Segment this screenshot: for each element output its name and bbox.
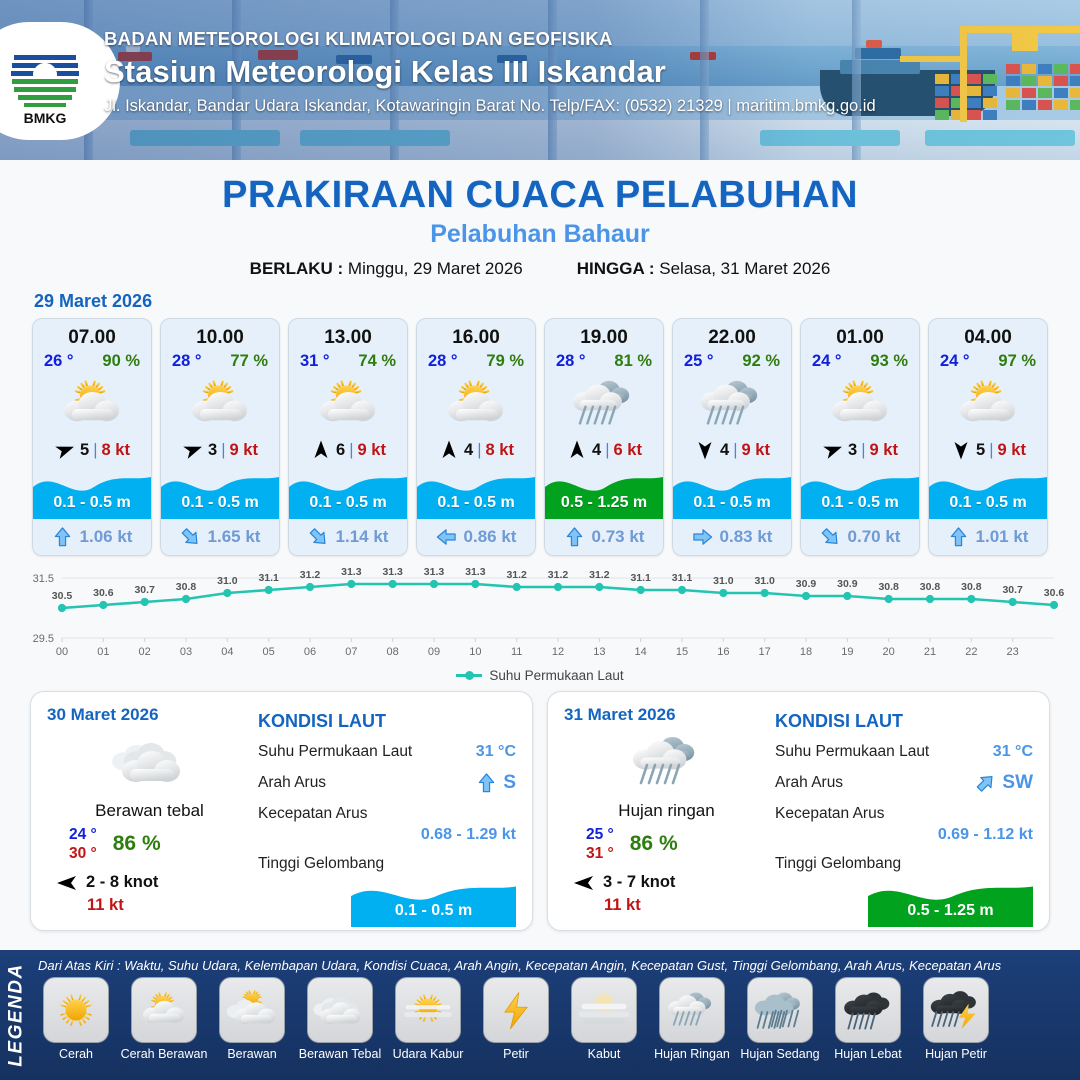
svg-text:20: 20 [883,646,895,658]
current-speed: 1.06 kt [80,527,133,547]
svg-text:29.5: 29.5 [33,633,54,645]
forecast-card[interactable]: 16.00 28 ° 79 % 4 | 8 [416,318,536,556]
wind-row: 5 | 9 kt [929,435,1047,465]
svg-text:06: 06 [304,646,316,658]
forecast-time: 10.00 [161,319,279,349]
forecast-temp-hum: 28 ° 79 % [417,349,535,371]
wave-height-row: Tinggi Gelombang [258,855,516,873]
current-direction-icon [308,526,329,548]
forecast-time: 07.00 [33,319,151,349]
daily-date: 30 Maret 2026 [47,705,252,725]
cerah-berawan-icon [311,375,385,433]
svg-text:12: 12 [552,646,564,658]
current-speed-row: Kecepatan Arus [258,805,516,823]
svg-text:18: 18 [800,646,812,658]
weather-condition-icon-wrap [417,373,535,435]
legend-item-label: Petir [503,1047,529,1061]
hujan-lebat-icon [840,985,896,1035]
sea-condition-title: KONDISI LAUT [258,711,516,732]
air-temperature: 31 ° [300,352,330,371]
svg-text:30.6: 30.6 [1044,587,1065,599]
wave-height-value: 0.1 - 0.5 m [801,494,919,512]
svg-text:31.0: 31.0 [754,575,775,587]
legend-icon-box [131,977,197,1043]
daily-gust: 11 kt [564,896,769,915]
legend-item: Cerah [34,977,118,1061]
current-direction-row: Arah Arus S [258,772,516,794]
wave-height-block: 0.1 - 0.5 m [801,465,919,519]
daily-wind-range: 2 - 8 knot [86,873,158,892]
svg-text:00: 00 [56,646,68,658]
humidity: 81 % [614,352,652,371]
gust-speed: 6 kt [614,441,642,460]
wind-row: 4 | 6 kt [545,435,663,465]
wave-height-block: 0.1 - 0.5 m [929,465,1047,519]
daily-temp-min: 25 ° [586,825,614,844]
daily-temp-range: 25 ° 31 ° [586,825,614,864]
svg-text:31.1: 31.1 [630,572,651,584]
svg-text:30.7: 30.7 [134,584,155,596]
wave-height-value: 0.1 - 0.5 m [289,494,407,512]
wind-row: 3 | 9 kt [801,435,919,465]
current-direction-icon [975,772,996,794]
wind-speed: 5 [80,441,89,460]
wave-height-value: 0.1 - 0.5 m [33,494,151,512]
svg-text:02: 02 [139,646,151,658]
current-speed-row: Kecepatan Arus [775,805,1033,823]
wind-separator: | [989,441,993,460]
humidity: 90 % [102,352,140,371]
hujan-sedang-icon [752,985,808,1035]
daily-gust: 11 kt [47,896,252,915]
svg-text:31.2: 31.2 [300,569,321,581]
forecast-temp-hum: 31 ° 74 % [289,349,407,371]
forecast-card[interactable]: 04.00 24 ° 97 % 5 | 9 [928,318,1048,556]
forecast-card[interactable]: 22.00 25 ° 92 % [672,318,792,556]
gust-speed: 9 kt [358,441,386,460]
daily-temp-max: 30 ° [69,844,97,863]
sst-chart-canvas: 31.529.500010203040506070809101112131415… [14,566,1066,666]
current-direction-icon [692,526,713,548]
weather-condition-icon-wrap [161,373,279,435]
humidity: 92 % [742,352,780,371]
legend-item: Cerah Berawan [122,977,206,1061]
svg-text:31.1: 31.1 [258,572,279,584]
wind-row: 3 | 9 kt [161,435,279,465]
hujan-ringan-icon [664,985,720,1035]
wind-row: 6 | 9 kt [289,435,407,465]
svg-text:30.5: 30.5 [52,590,73,602]
berawan-tebal-icon [312,985,368,1035]
legend-icon-box [571,977,637,1043]
legend-icon-box [395,977,461,1043]
forecast-temp-hum: 26 ° 90 % [33,349,151,371]
forecast-time: 19.00 [545,319,663,349]
current-speed: 0.73 kt [592,527,645,547]
forecast-card[interactable]: 19.00 28 ° 81 % [544,318,664,556]
sst-label: Suhu Permukaan Laut [258,743,412,761]
svg-text:30.7: 30.7 [1002,584,1023,596]
svg-text:09: 09 [428,646,440,658]
hujan-ringan-icon [567,375,641,433]
forecast-time: 22.00 [673,319,791,349]
legend-item: Petir [474,977,558,1061]
weather-condition-icon-wrap [289,373,407,435]
svg-text:30.9: 30.9 [796,578,817,590]
current-speed-value: 0.69 - 1.12 kt [775,826,1033,844]
wind-direction-icon [438,439,460,461]
wind-speed: 3 [208,441,217,460]
current-direction-value-group: S [476,772,516,794]
legend-body: Dari Atas Kiri : Waktu, Suhu Udara, Kele… [34,950,1080,1080]
weather-condition-icon-wrap [673,373,791,435]
wave-height-block: 0.1 - 0.5 m [33,465,151,519]
wave-height-value: 0.1 - 0.5 m [161,494,279,512]
forecast-temp-hum: 28 ° 77 % [161,349,279,371]
svg-text:19: 19 [841,646,853,658]
forecast-card[interactable]: 01.00 24 ° 93 % 3 | 9 [800,318,920,556]
legend-item-label: Udara Kabur [393,1047,464,1061]
wind-direction-icon [822,439,844,461]
page-title: PRAKIRAAN CUACA PELABUHAN [0,174,1080,217]
air-temperature: 28 ° [428,352,458,371]
svg-text:22: 22 [965,646,977,658]
current-row: 1.06 kt [33,519,151,555]
daily-forecast-card[interactable]: 30 Maret 2026 Berawan tebal [30,691,533,931]
current-direction-row: Arah Arus SW [775,772,1033,794]
daily-summary-row: 30 Maret 2026 Berawan tebal [0,683,1080,931]
chart-legend: Suhu Permukaan Laut [0,668,1080,683]
daily-weather-icon-wrap [564,731,769,793]
svg-text:30.8: 30.8 [920,581,941,593]
legend-item: Hujan Ringan [650,977,734,1061]
forecast-temp-hum: 24 ° 93 % [801,349,919,371]
daily-wind-row: 2 - 8 knot [47,872,252,894]
current-direction-label: Arah Arus [258,774,326,792]
page-subtitle: Pelabuhan Bahaur [0,220,1080,249]
bmkg-logo-badge: BMKG [0,22,120,140]
daily-temps: 25 ° 31 ° 86 % [564,825,769,864]
current-direction-label: Arah Arus [775,774,843,792]
berlaku-group: BERLAKU : Minggu, 29 Maret 2026 [250,259,523,279]
berawan-tebal-icon [109,731,191,793]
wave-height-block: 0.1 - 0.5 m [417,465,535,519]
current-row: 0.73 kt [545,519,663,555]
forecast-time: 04.00 [929,319,1047,349]
wind-speed: 3 [848,441,857,460]
legend-item: Hujan Petir [914,977,998,1061]
legend-icon-box [923,977,989,1043]
current-row: 1.01 kt [929,519,1047,555]
hujan-ringan-icon [626,731,708,793]
berlaku-value: Minggu, 29 Maret 2026 [348,259,523,278]
svg-text:31.2: 31.2 [589,569,610,581]
daily-temp-range: 24 ° 30 ° [69,825,97,864]
udara-kabur-icon [400,985,456,1035]
wind-separator: | [861,441,865,460]
air-temperature: 24 ° [940,352,970,371]
agency-name: BADAN METEOROLOGI KLIMATOLOGI DAN GEOFIS… [104,28,1054,50]
legend-item-label: Hujan Petir [925,1047,987,1061]
gust-speed: 8 kt [486,441,514,460]
weather-condition-icon-wrap [929,373,1047,435]
wind-separator: | [93,441,97,460]
svg-text:17: 17 [759,646,771,658]
wind-direction-icon [566,439,588,461]
wind-row: 4 | 9 kt [673,435,791,465]
legend-item: Hujan Lebat [826,977,910,1061]
svg-text:30.8: 30.8 [878,581,899,593]
daily-wave-value: 0.1 - 0.5 m [351,902,516,920]
wind-speed: 4 [592,441,601,460]
cerah-berawan-icon [55,375,129,433]
daily-temp-min: 24 ° [69,825,97,844]
legend-icon-box [483,977,549,1043]
sea-condition-title: KONDISI LAUT [775,711,1033,732]
svg-text:23: 23 [1007,646,1019,658]
daily-date: 31 Maret 2026 [564,705,769,725]
cerah-berawan-icon [136,985,192,1035]
humidity: 97 % [998,352,1036,371]
svg-text:14: 14 [635,646,647,658]
current-speed-label: Kecepatan Arus [258,805,367,823]
legend-item: Udara Kabur [386,977,470,1061]
legend-icon-box [219,977,285,1043]
hujan-ringan-icon [695,375,769,433]
air-temperature: 28 ° [172,352,202,371]
svg-text:31.1: 31.1 [672,572,693,584]
station-name: Stasiun Meteorologi Kelas III Iskandar [104,54,1054,90]
current-direction-icon [180,526,201,548]
svg-text:15: 15 [676,646,688,658]
forecast-day-label: 29 Maret 2026 [34,291,1080,312]
forecast-time: 01.00 [801,319,919,349]
daily-wave-block: 0.1 - 0.5 m [351,875,516,927]
sst-row: Suhu Permukaan Laut 31 °C [258,743,516,761]
humidity: 77 % [230,352,268,371]
svg-text:16: 16 [717,646,729,658]
current-speed: 1.14 kt [336,527,389,547]
legend-item-label: Cerah [59,1047,93,1061]
wind-speed: 4 [464,441,473,460]
current-direction-icon [564,526,585,548]
daily-temp-max: 31 ° [586,844,614,863]
wave-height-value: 0.1 - 0.5 m [673,494,791,512]
legend-item-label: Hujan Ringan [654,1047,730,1061]
current-row: 1.14 kt [289,519,407,555]
sea-condition-column: KONDISI LAUT Suhu Permukaan Laut 31 °C A… [769,705,1033,917]
svg-text:30.9: 30.9 [837,578,858,590]
current-speed: 1.65 kt [208,527,261,547]
forecast-temp-hum: 28 ° 81 % [545,349,663,371]
page-header: BMKG BADAN METEOROLOGI KLIMATOLOGI DAN G… [0,0,1080,160]
daily-humidity: 86 % [113,832,161,856]
svg-text:05: 05 [263,646,275,658]
wave-height-row: Tinggi Gelombang [775,855,1033,873]
current-direction-icon [476,772,497,794]
wind-speed: 4 [720,441,729,460]
wind-direction-icon [694,439,716,461]
legend-item-label: Hujan Lebat [834,1047,901,1061]
legend-note: Dari Atas Kiri : Waktu, Suhu Udara, Kele… [34,950,1076,977]
forecast-card[interactable]: 07.00 26 ° 90 % 5 | 8 [32,318,152,556]
cerah-berawan-icon [183,375,257,433]
svg-text:31.2: 31.2 [548,569,569,581]
svg-text:30.8: 30.8 [961,581,982,593]
daily-humidity: 86 % [630,832,678,856]
current-direction-value-group: SW [975,772,1033,794]
svg-text:13: 13 [593,646,605,658]
weather-condition-icon-wrap [33,373,151,435]
legend-icon-box [659,977,725,1043]
forecast-card[interactable]: 13.00 31 ° 74 % 6 | 9 [288,318,408,556]
daily-condition: Hujan ringan [564,801,769,821]
title-block: PRAKIRAAN CUACA PELABUHAN Pelabuhan Baha… [0,160,1080,279]
sst-value: 31 °C [993,743,1033,761]
wind-direction-icon [55,872,79,894]
current-speed-label: Kecepatan Arus [775,805,884,823]
legend-icon-box [835,977,901,1043]
daily-left-column: 30 Maret 2026 Berawan tebal [47,705,252,917]
svg-text:31.0: 31.0 [217,575,238,587]
forecast-temp-hum: 24 ° 97 % [929,349,1047,371]
legend-side-title-text: LEGENDA [6,963,28,1066]
daily-forecast-card[interactable]: 31 Maret 2026 Hujan ringan 25 ° [547,691,1050,931]
wind-separator: | [733,441,737,460]
daily-condition: Berawan tebal [47,801,252,821]
current-direction-icon [436,526,457,548]
forecast-card[interactable]: 10.00 28 ° 77 % 3 | 9 [160,318,280,556]
legend-item: Berawan [210,977,294,1061]
wave-height-label: Tinggi Gelombang [258,855,384,873]
current-speed: 1.01 kt [976,527,1029,547]
cerah-berawan-icon [439,375,513,433]
weather-condition-icon-wrap [545,373,663,435]
legend-item-label: Cerah Berawan [121,1047,208,1061]
current-row: 1.65 kt [161,519,279,555]
legend-icon-box [747,977,813,1043]
berlaku-label: BERLAKU : [250,259,344,278]
wind-separator: | [349,441,353,460]
svg-text:04: 04 [221,646,233,658]
wave-height-block: 0.1 - 0.5 m [673,465,791,519]
svg-text:08: 08 [387,646,399,658]
wave-height-value: 0.1 - 0.5 m [417,494,535,512]
chart-legend-marker [456,674,482,677]
wind-speed: 6 [336,441,345,460]
legend-item-label: Berawan Tebal [299,1047,381,1061]
daily-left-column: 31 Maret 2026 Hujan ringan 25 ° [564,705,769,917]
daily-wind-row: 3 - 7 knot [564,872,769,894]
wind-separator: | [221,441,225,460]
air-temperature: 25 ° [684,352,714,371]
daily-wind-range: 3 - 7 knot [603,873,675,892]
current-speed: 0.86 kt [464,527,517,547]
svg-text:21: 21 [924,646,936,658]
svg-text:30.6: 30.6 [93,587,114,599]
humidity: 93 % [870,352,908,371]
humidity: 74 % [358,352,396,371]
wave-height-label: Tinggi Gelombang [775,855,901,873]
hingga-value: Selasa, 31 Maret 2026 [659,259,830,278]
svg-text:BMKG: BMKG [24,110,67,126]
legend-icon-box [307,977,373,1043]
current-speed: 0.70 kt [848,527,901,547]
hourly-forecast-row: 07.00 26 ° 90 % 5 | 8 [0,318,1080,556]
hingga-group: HINGGA : Selasa, 31 Maret 2026 [577,259,831,279]
forecast-time: 13.00 [289,319,407,349]
current-row: 0.86 kt [417,519,535,555]
validity-row: BERLAKU : Minggu, 29 Maret 2026 HINGGA :… [0,259,1080,279]
wind-direction-icon [310,439,332,461]
svg-text:31.3: 31.3 [465,566,486,578]
humidity: 79 % [486,352,524,371]
daily-temps: 24 ° 30 ° 86 % [47,825,252,864]
svg-text:31.3: 31.3 [382,566,403,578]
air-temperature: 28 ° [556,352,586,371]
header-text-block: BADAN METEOROLOGI KLIMATOLOGI DAN GEOFIS… [104,28,1054,116]
wave-height-value: 0.1 - 0.5 m [929,494,1047,512]
sea-condition-column: KONDISI LAUT Suhu Permukaan Laut 31 °C A… [252,705,516,917]
wind-direction-icon [950,439,972,461]
hingga-label: HINGGA : [577,259,655,278]
sst-chart: 31.529.500010203040506070809101112131415… [14,566,1066,666]
legend-icon-box [43,977,109,1043]
legend-item: Kabut [562,977,646,1061]
legend-item-label: Berawan [227,1047,276,1061]
wind-separator: | [605,441,609,460]
kabut-icon [576,985,632,1035]
wave-height-block: 0.1 - 0.5 m [161,465,279,519]
air-temperature: 26 ° [44,352,74,371]
wind-direction-icon [54,439,76,461]
wind-row: 4 | 8 kt [417,435,535,465]
legend-side-title: LEGENDA [0,950,34,1080]
svg-text:30.8: 30.8 [176,581,197,593]
legend-item: Hujan Sedang [738,977,822,1061]
legend-item-label: Hujan Sedang [740,1047,819,1061]
svg-text:31.3: 31.3 [424,566,445,578]
wind-direction-icon [182,439,204,461]
daily-wave-value: 0.5 - 1.25 m [868,902,1033,920]
daily-wave-block: 0.5 - 1.25 m [868,875,1033,927]
gust-speed: 8 kt [102,441,130,460]
cerah-icon [48,985,104,1035]
chart-legend-label: Suhu Permukaan Laut [489,668,623,683]
wind-speed: 5 [976,441,985,460]
current-direction-icon [948,526,969,548]
svg-text:10: 10 [469,646,481,658]
current-row: 0.83 kt [673,519,791,555]
current-direction-value: S [503,772,516,794]
svg-text:31.5: 31.5 [33,573,54,585]
forecast-time: 16.00 [417,319,535,349]
station-address: Jl. Iskandar, Bandar Udara Iskandar, Kot… [104,97,1054,116]
wave-height-block: 0.5 - 1.25 m [545,465,663,519]
hujan-petir-icon [928,985,984,1035]
svg-text:31.2: 31.2 [506,569,527,581]
legend-strip: LEGENDA Dari Atas Kiri : Waktu, Suhu Uda… [0,950,1080,1080]
sst-row: Suhu Permukaan Laut 31 °C [775,743,1033,761]
gust-speed: 9 kt [230,441,258,460]
current-speed: 0.83 kt [720,527,773,547]
svg-text:11: 11 [511,646,522,658]
legend-item-label: Kabut [588,1047,621,1061]
wind-row: 5 | 8 kt [33,435,151,465]
svg-text:01: 01 [97,646,109,658]
svg-text:03: 03 [180,646,192,658]
current-direction-value: SW [1002,772,1033,794]
